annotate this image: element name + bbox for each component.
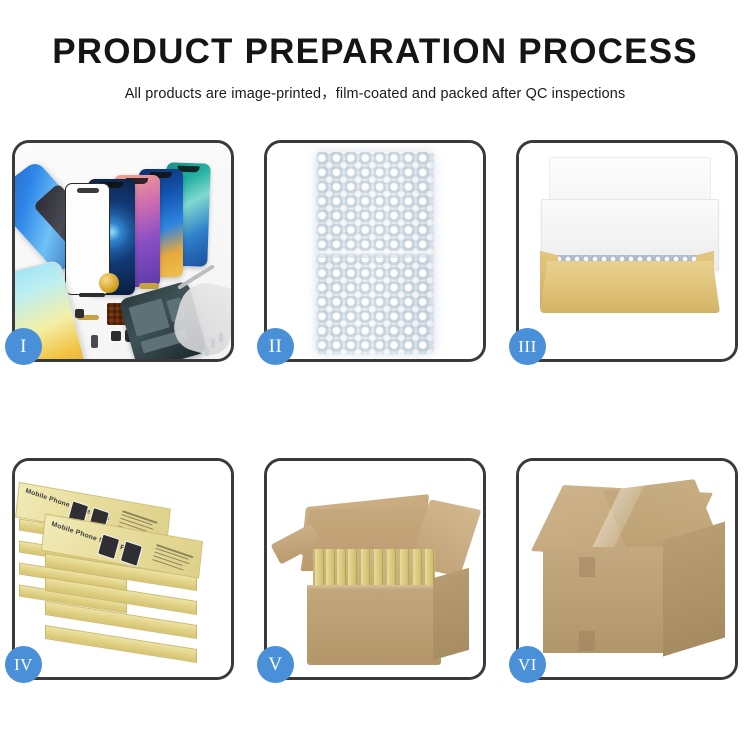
carton-side-panel-icon [433, 568, 469, 660]
step-image-bubble-wrap [267, 143, 483, 359]
screw-2-icon [219, 333, 223, 342]
bubble-wrap-seam [316, 251, 434, 258]
carton-front-panel-icon [307, 589, 441, 665]
sim-tray-icon [91, 335, 98, 348]
step-image-open-carton [267, 461, 483, 677]
connector-part-icon [75, 309, 84, 318]
step-image-inner-box [519, 143, 735, 359]
step-panel-open-carton: V [264, 458, 486, 680]
sealed-carton-front-icon [543, 547, 663, 653]
step-badge-4: IV [5, 646, 42, 683]
carton-seam-top-icon [579, 557, 595, 577]
bubble-wrap-edge-right [431, 152, 434, 354]
step-image-stacked-boxes: Mobile Phone Spare Parts Mobile [15, 461, 231, 677]
step-panel-products-and-parts: I [12, 140, 234, 362]
step-badge-3: III [509, 328, 546, 365]
steps-grid: I II [12, 140, 738, 685]
step-panel-inner-box: III [516, 140, 738, 362]
earpiece-part-icon [79, 293, 105, 297]
kraft-box-body-icon [540, 261, 720, 313]
step-image-products-and-parts [15, 143, 231, 359]
step-image-sealed-carton [519, 461, 735, 677]
flex-cable-1-icon [139, 283, 159, 289]
page-subtitle: All products are image-printed，film-coat… [0, 82, 750, 103]
step-badge-1: I [5, 328, 42, 365]
step-badge-6: VI [509, 646, 546, 683]
step-badge-2: II [257, 328, 294, 365]
step-panel-bubble-wrap: II [264, 140, 486, 362]
product-preparation-infographic: PRODUCT PREPARATION PROCESS All products… [0, 0, 750, 750]
header: PRODUCT PREPARATION PROCESS All products… [0, 0, 750, 103]
step-panel-sealed-carton: VI [516, 458, 738, 680]
camera-module-icon [111, 331, 121, 341]
bubble-wrap-icon [316, 152, 434, 354]
bubble-wrap-edge-left [316, 152, 319, 354]
sealed-carton-side-icon [663, 522, 725, 657]
box-screen-image-f1 [97, 533, 120, 560]
page-title: PRODUCT PREPARATION PROCESS [0, 34, 750, 71]
step-badge-5: V [257, 646, 294, 683]
box-spec-lines-front [152, 544, 198, 576]
screw-1-icon [211, 339, 215, 348]
speaker-module-icon [99, 273, 119, 293]
screw-3-icon [205, 347, 209, 356]
box-screen-image-f2 [120, 540, 143, 567]
carton-seam-bottom-icon [579, 631, 595, 651]
step-panel-stacked-boxes: Mobile Phone Spare Parts Mobile [12, 458, 234, 680]
